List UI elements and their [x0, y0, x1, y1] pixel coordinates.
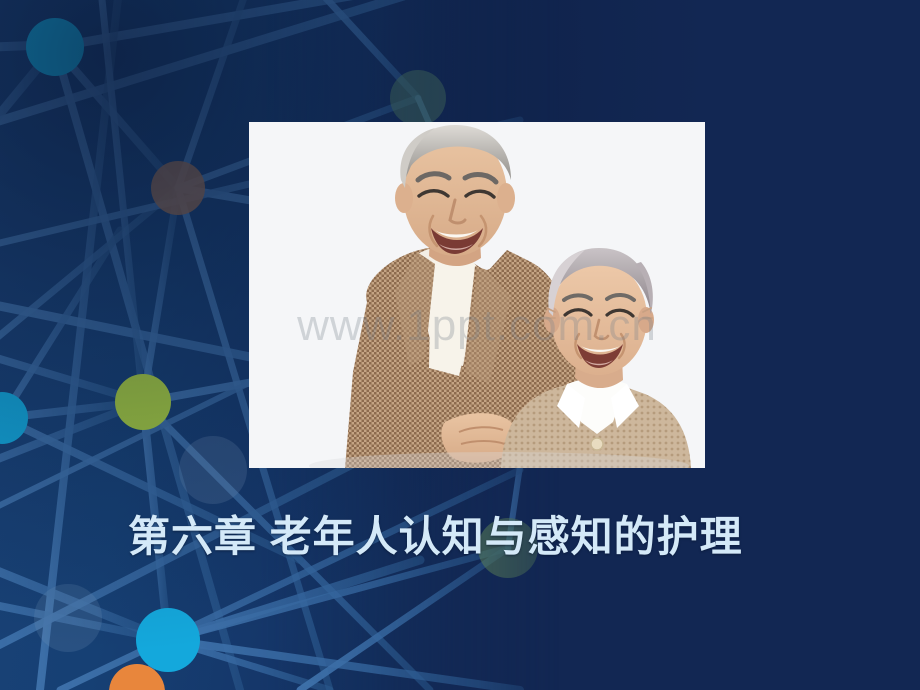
slide-title: 第六章 老年人认知与感知的护理	[128, 512, 743, 562]
elderly-couple-illustration	[249, 122, 705, 468]
elderly-couple-photo: www.1ppt.com.cn	[249, 122, 705, 468]
node-ghost-lower	[34, 584, 102, 652]
node-ghost-mid	[179, 436, 247, 504]
node-cyan-top-left	[26, 18, 84, 76]
presentation-slide: www.1ppt.com.cn 第六章 老年人认知与感知的护理	[0, 0, 920, 690]
node-green-muted-top	[390, 70, 446, 126]
node-cyan-bottom	[136, 608, 200, 672]
node-brown-upper	[151, 161, 205, 215]
node-green-mid	[115, 374, 171, 430]
node-cyan-left-edge	[0, 392, 28, 444]
